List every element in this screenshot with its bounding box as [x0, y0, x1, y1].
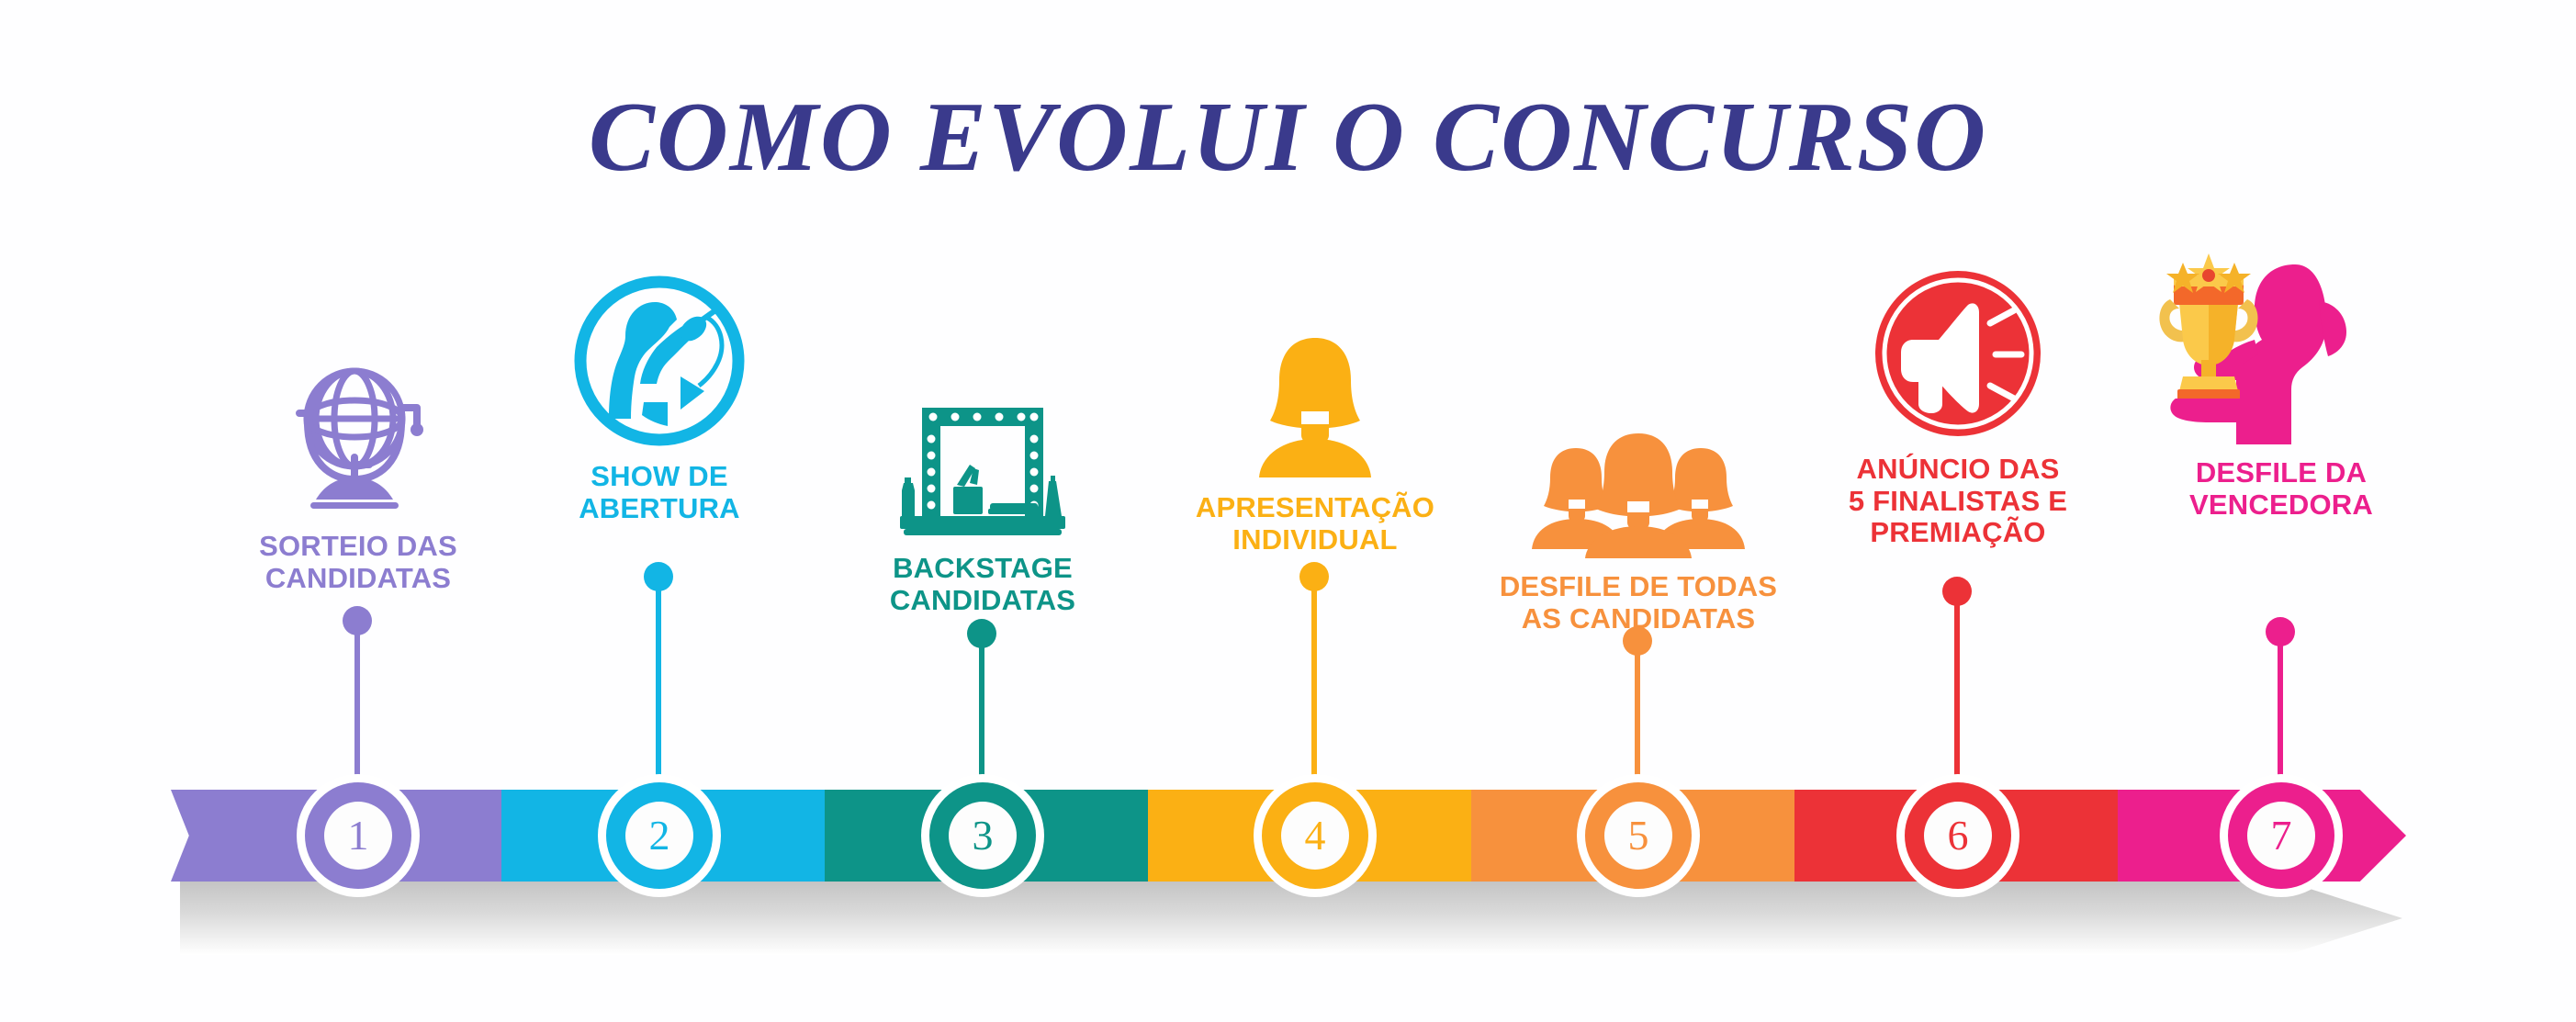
step-number-circle-6[interactable]: 6	[1905, 782, 2011, 889]
lottery-globe-icon	[277, 362, 439, 518]
step-number-circle-2[interactable]: 2	[606, 782, 713, 889]
step-icon-vanity-mirror-icon	[790, 384, 1176, 540]
step-label: BACKSTAGE CANDIDATAS	[790, 553, 1176, 616]
step-number: 7	[2247, 802, 2315, 870]
single-woman-icon	[1246, 332, 1384, 479]
connector-line	[1954, 591, 1960, 795]
step-label: SORTEIO DAS CANDIDATAS	[165, 531, 551, 594]
step-number: 2	[625, 802, 693, 870]
step-number: 1	[324, 802, 392, 870]
singer-circle-icon	[572, 274, 747, 448]
step-icon-winner-trophy-icon	[2088, 288, 2474, 444]
connector-line	[979, 634, 984, 795]
megaphone-circle-icon	[1871, 266, 2045, 441]
connector-line	[1311, 577, 1317, 795]
step-number-circle-4[interactable]: 4	[1262, 782, 1368, 889]
step-number-circle-3[interactable]: 3	[929, 782, 1036, 889]
step-number: 4	[1281, 802, 1349, 870]
connector-line	[656, 577, 661, 795]
timeline-step-3[interactable]: BACKSTAGE CANDIDATAS	[790, 384, 1176, 616]
step-number: 6	[1924, 802, 1992, 870]
step-number: 5	[1604, 802, 1672, 870]
connector-line	[2278, 632, 2283, 795]
step-label: DESFILE DE TODAS AS CANDIDATAS	[1445, 571, 1831, 635]
step-number: 3	[949, 802, 1017, 870]
timeline-step-7[interactable]: DESFILE DA VENCEDORA	[2088, 288, 2474, 521]
step-number-circle-1[interactable]: 1	[305, 782, 411, 889]
step-number-circle-7[interactable]: 7	[2228, 782, 2334, 889]
vanity-mirror-icon	[900, 402, 1065, 540]
connector-line	[354, 621, 360, 795]
step-label: DESFILE DA VENCEDORA	[2088, 457, 2474, 521]
connector-line	[1635, 641, 1640, 795]
winner-trophy-icon	[2157, 252, 2405, 444]
step-number-circle-5[interactable]: 5	[1585, 782, 1692, 889]
three-women-icon	[1528, 433, 1749, 558]
